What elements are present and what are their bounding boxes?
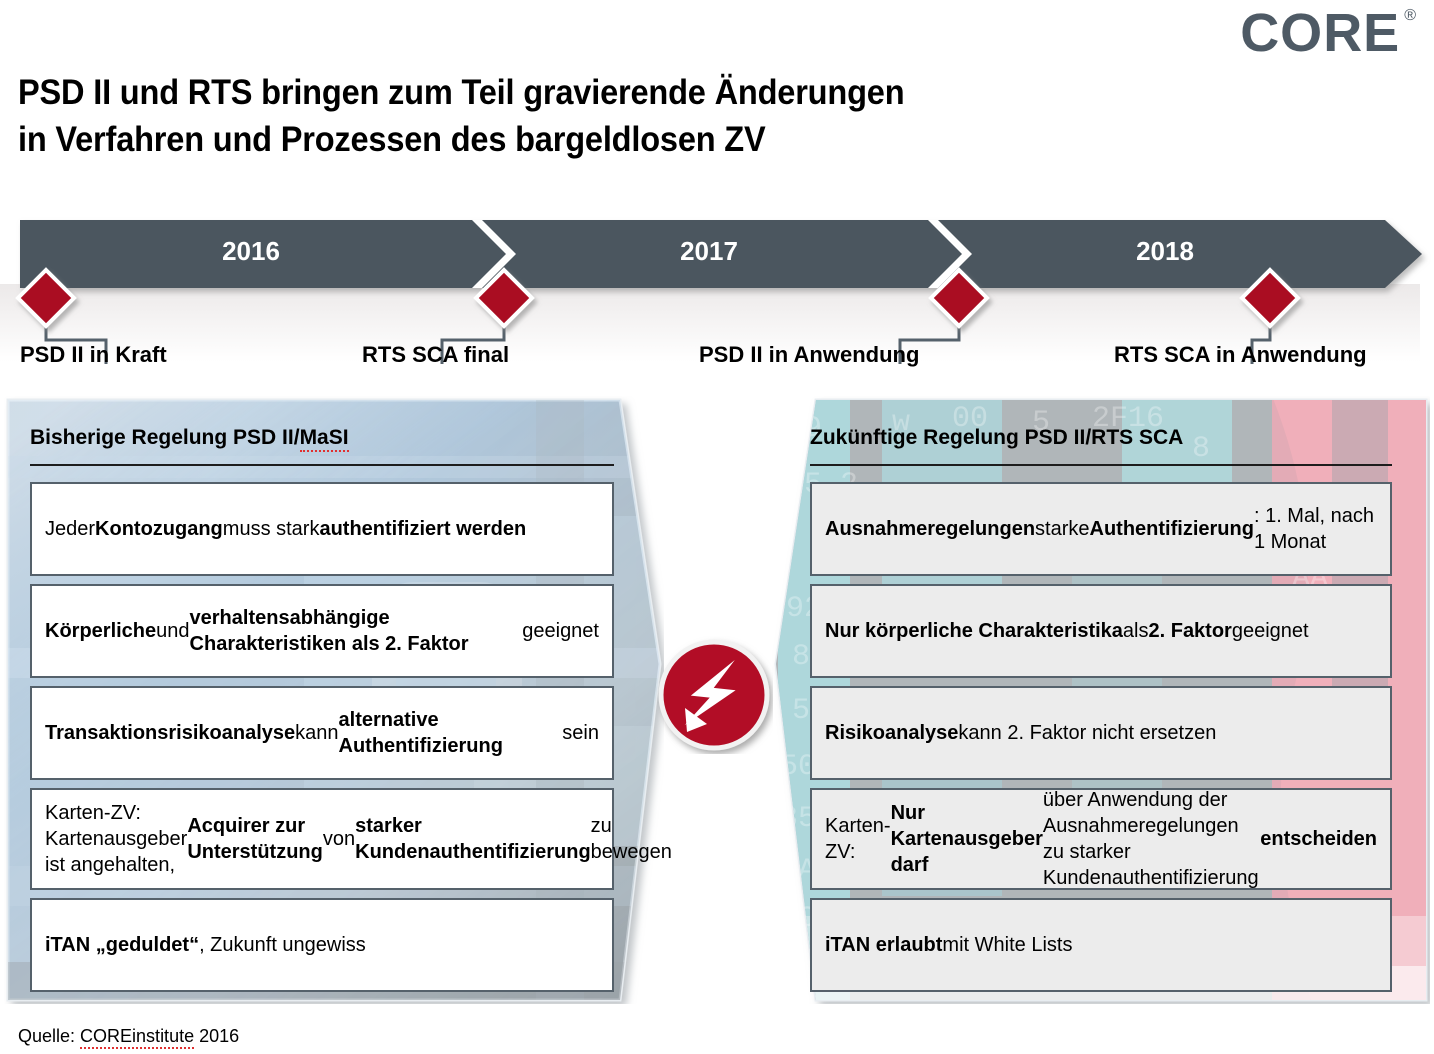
timeline-milestone-label-2: RTS SCA final bbox=[362, 342, 509, 368]
source-prefix: Quelle: bbox=[18, 1026, 80, 1046]
timeline-milestone-label-3: PSD II in Anwendung bbox=[699, 342, 919, 368]
panel-right-heading-rule bbox=[810, 464, 1392, 466]
list-item[interactable]: Transaktionsrisikoanalyse kann alternati… bbox=[30, 686, 614, 780]
list-item[interactable]: iTAN erlaubt mit White Lists bbox=[810, 898, 1392, 992]
timeline-year-2018: 2018 bbox=[1065, 236, 1265, 267]
panel-left-heading-rule bbox=[30, 464, 614, 466]
list-item[interactable]: Risikoanalyse kann 2. Faktor nicht erset… bbox=[810, 686, 1392, 780]
panel-current-regulation: Bisherige Regelung PSD II/MaSI Jeder Kon… bbox=[4, 396, 664, 1004]
panel-future-regulation: 59 w 00 5 2F16 05 2 3 92 8 5 A4 4x 50 bbox=[772, 396, 1430, 1004]
page-title-line1: PSD II und RTS bringen zum Teil graviere… bbox=[18, 73, 904, 112]
list-item[interactable]: Karten-ZV: Nur Kartenausgeber darf über … bbox=[810, 788, 1392, 890]
slide-canvas: CORE ® PSD II und RTS bringen zum Teil g… bbox=[0, 0, 1434, 1054]
svg-text:8: 8 bbox=[792, 640, 810, 674]
svg-text:5: 5 bbox=[792, 694, 810, 728]
source-spellcheck-word: COREinstitute bbox=[80, 1026, 194, 1049]
list-item[interactable]: Körperliche und verhaltensabhängige Char… bbox=[30, 584, 614, 678]
lightning-bolt-badge bbox=[655, 636, 773, 754]
source-note: Quelle: COREinstitute 2016 bbox=[18, 1026, 239, 1047]
timeline-year-2017: 2017 bbox=[609, 236, 809, 267]
core-logo: CORE ® bbox=[1240, 6, 1416, 60]
panel-left-heading-spellcheck: MaSI bbox=[300, 426, 349, 452]
timeline-milestone-label-1: PSD II in Kraft bbox=[20, 342, 167, 368]
list-item[interactable]: Karten-ZV: Kartenausgeber ist angehalten… bbox=[30, 788, 614, 890]
panel-left-heading: Bisherige Regelung PSD II/MaSI bbox=[30, 426, 349, 450]
registered-trademark-icon: ® bbox=[1404, 8, 1416, 24]
page-title-line2: in Verfahren und Prozessen des bargeldlo… bbox=[18, 117, 1115, 164]
list-item[interactable]: iTAN „geduldet“, Zukunft ungewiss bbox=[30, 898, 614, 992]
list-item[interactable]: Ausnahmeregelungen starke Authentifizier… bbox=[810, 482, 1392, 576]
list-item[interactable]: Jeder Kontozugang muss stark authentifiz… bbox=[30, 482, 614, 576]
page-title: PSD II und RTS bringen zum Teil graviere… bbox=[18, 70, 1115, 164]
panel-left-heading-text: Bisherige Regelung PSD II/ bbox=[30, 426, 300, 449]
timeline-milestone-label-4: RTS SCA in Anwendung bbox=[1114, 342, 1367, 368]
timeline-year-2016: 2016 bbox=[151, 236, 351, 267]
lightning-bolt-icon bbox=[655, 636, 773, 754]
core-logo-wordmark: CORE bbox=[1240, 6, 1400, 60]
source-year: 2016 bbox=[194, 1026, 239, 1046]
list-item[interactable]: Nur körperliche Charakteristika als 2. F… bbox=[810, 584, 1392, 678]
panel-right-heading: Zukünftige Regelung PSD II/RTS SCA bbox=[810, 426, 1183, 450]
svg-text:8: 8 bbox=[1192, 432, 1210, 466]
